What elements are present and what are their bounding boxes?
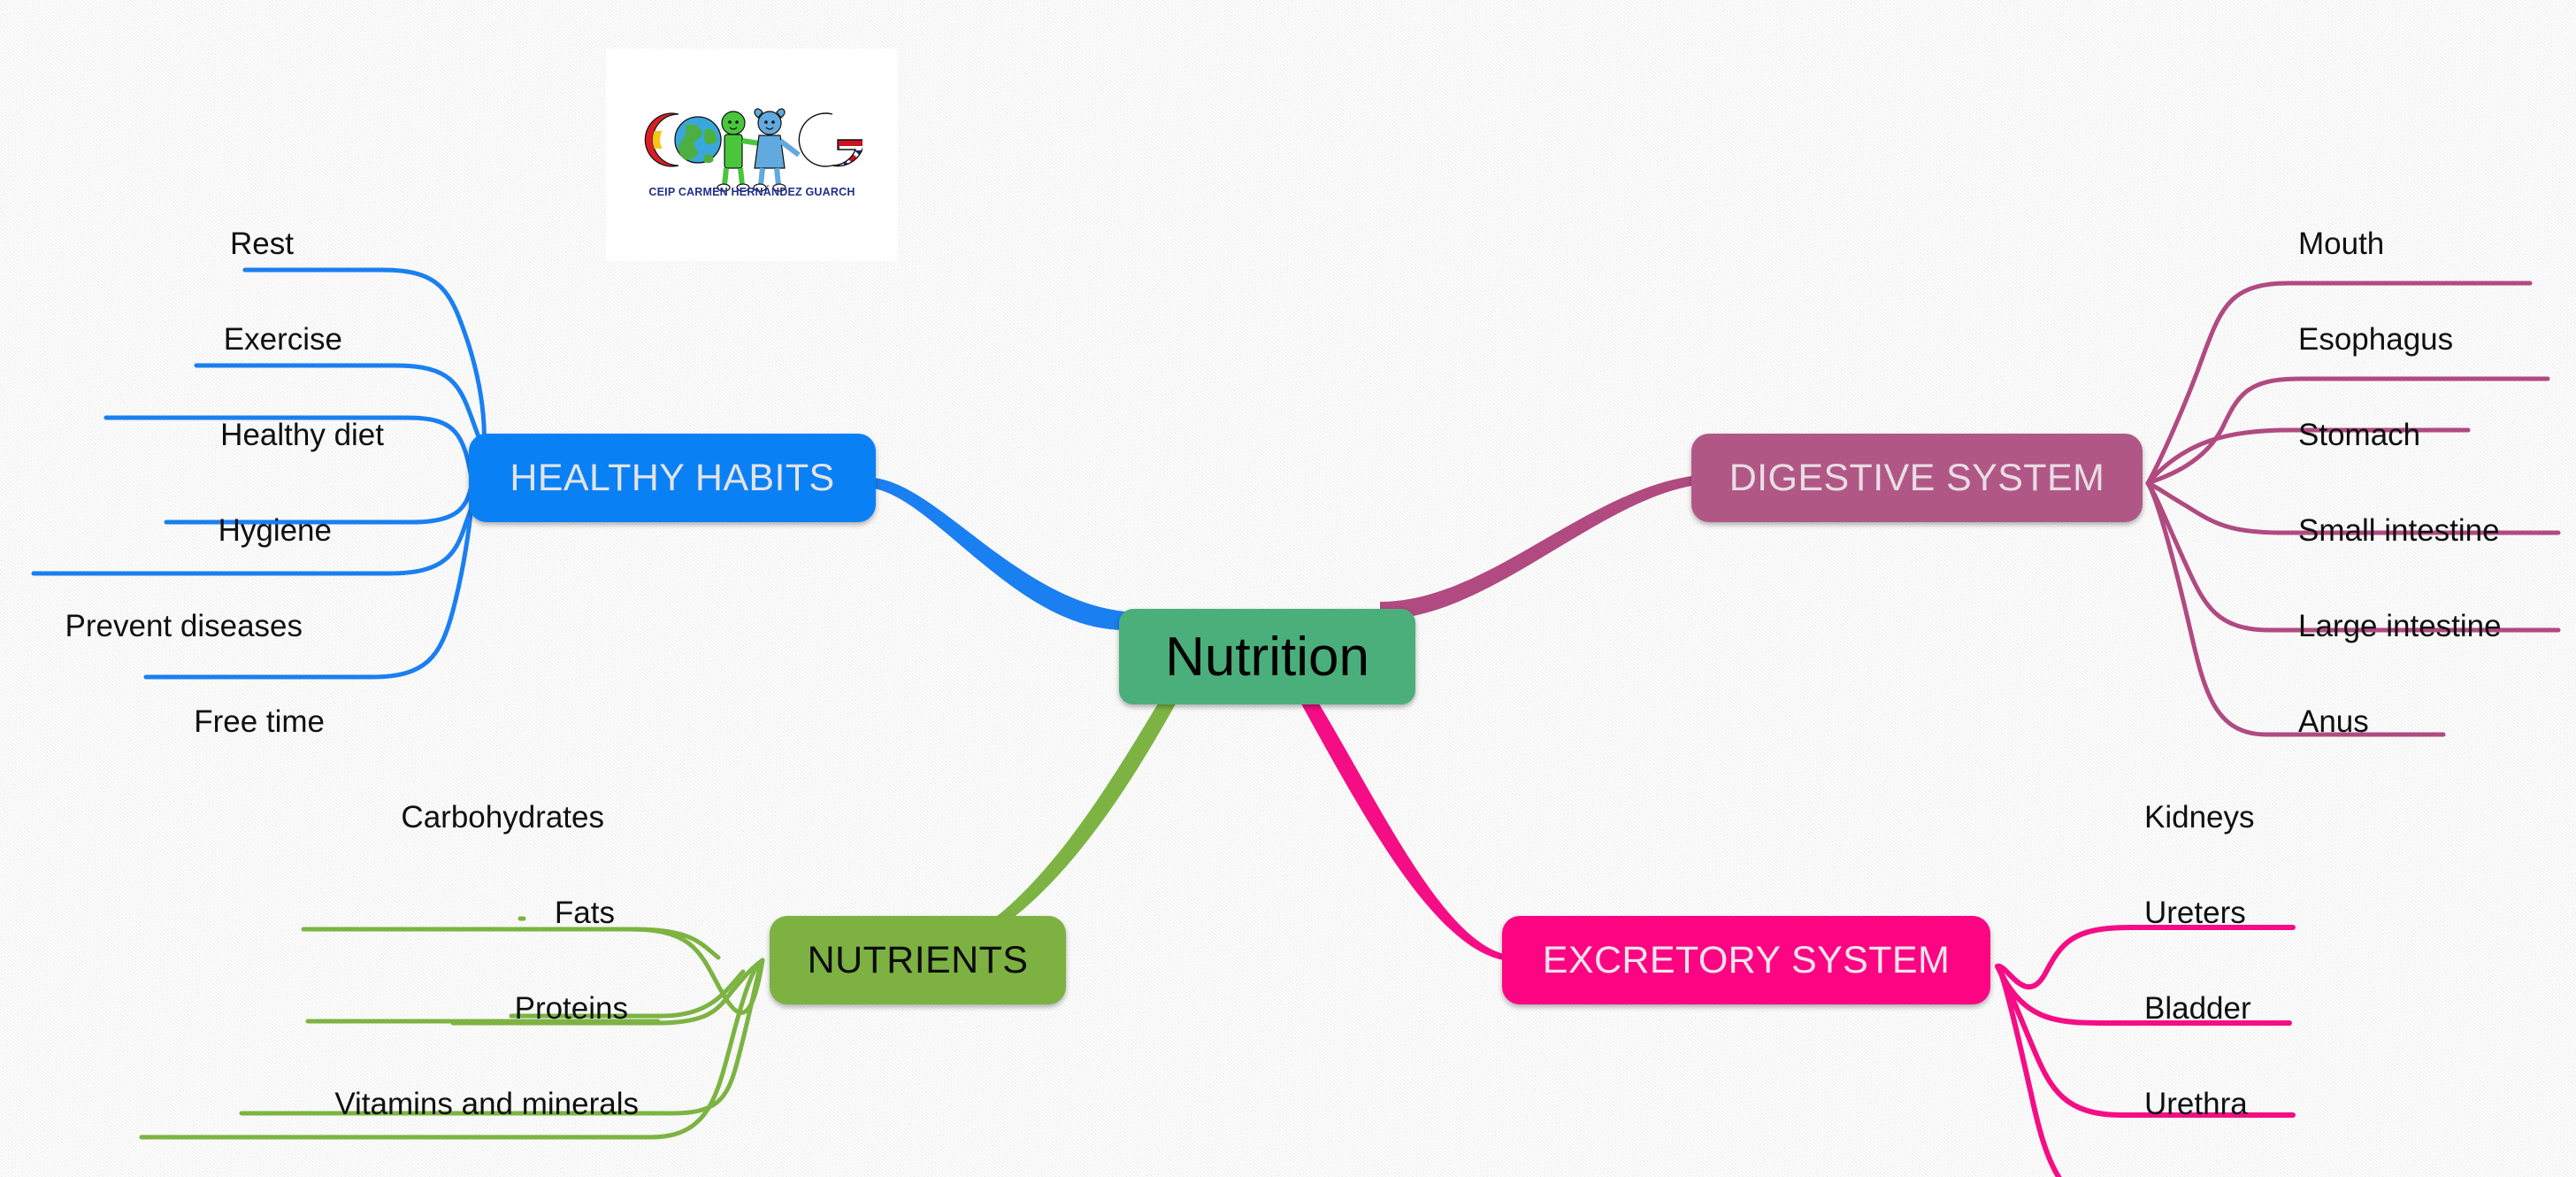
leaf-digestive-stomach[interactable]: Stomach <box>2298 419 2420 450</box>
leaf-label: Large intestine <box>2298 609 2502 643</box>
edges-excretory-system <box>1997 927 2293 1177</box>
leaf-digestive-large-intestine[interactable]: Large intestine <box>2298 611 2502 642</box>
leaf-label: Hygiene <box>218 513 332 548</box>
leaf-healthy-habits-exercise[interactable]: Exercise <box>224 324 342 355</box>
branch-node-digestive-system[interactable]: DIGESTIVE SYSTEM <box>1691 434 2143 522</box>
leaf-label: Healthy diet <box>220 418 384 452</box>
school-logo-caption: CEIP CARMEN HERNÁNDEZ GUARCH <box>606 186 898 198</box>
branch-node-healthy-habits[interactable]: HEALTHY HABITS <box>469 434 876 522</box>
leaf-label: Vitamins and minerals <box>334 1087 639 1121</box>
central-node-nutrition[interactable]: Nutrition <box>1119 609 1415 704</box>
leaf-label: Rest <box>230 227 294 261</box>
leaf-digestive-small-intestine[interactable]: Small intestine <box>2298 515 2500 546</box>
school-logo: CEIP CARMEN HERNÁNDEZ GUARCH <box>606 49 898 261</box>
leaf-label: Fats <box>555 896 615 930</box>
leaf-nutrients-fats[interactable]: Fats <box>555 897 615 928</box>
leaf-excretory-kidneys[interactable]: Kidneys <box>2144 802 2255 833</box>
uk-flag-g-icon <box>799 108 862 174</box>
logo-graphic <box>641 104 862 196</box>
trunk-healthy-habits <box>874 478 1141 630</box>
leaf-label: Carbohydrates <box>401 800 604 835</box>
leaf-excretory-bladder[interactable]: Bladder <box>2144 993 2251 1024</box>
mindmap-canvas: CEIP CARMEN HERNÁNDEZ GUARCH Nutrition H… <box>0 0 2576 1177</box>
leaf-digestive-esophagus[interactable]: Esophagus <box>2298 324 2453 355</box>
spain-flag-c-icon <box>645 113 678 166</box>
leaf-nutrients-vitamins-and-minerals[interactable]: Vitamins and minerals <box>334 1089 639 1119</box>
globe-icon <box>675 117 721 163</box>
leaf-healthy-habits-rest[interactable]: Rest <box>230 228 294 259</box>
leaf-label: Mouth <box>2298 227 2384 261</box>
branch-node-nutrients-label: NUTRIENTS <box>808 939 1029 982</box>
leaf-digestive-anus[interactable]: Anus <box>2298 706 2369 737</box>
branch-node-nutrients[interactable]: NUTRIENTS <box>770 916 1066 1004</box>
trunk-digestive-system <box>1380 476 1691 619</box>
leaf-healthy-habits-hygiene[interactable]: Hygiene <box>218 515 332 546</box>
leaf-label: Bladder <box>2144 991 2251 1026</box>
leaf-excretory-urethra[interactable]: Urethra <box>2144 1089 2248 1119</box>
leaf-label: Kidneys <box>2144 800 2255 835</box>
leaf-excretory-ureters[interactable]: Ureters <box>2144 897 2246 928</box>
central-node-label: Nutrition <box>1165 626 1369 689</box>
leaf-nutrients-proteins[interactable]: Proteins <box>515 993 628 1024</box>
leaf-label: Ureters <box>2144 896 2246 930</box>
leaf-label: Prevent diseases <box>65 609 303 643</box>
branch-node-excretory-system-label: EXCRETORY SYSTEM <box>1543 939 1950 982</box>
leaf-healthy-habits-healthy-diet[interactable]: Healthy diet <box>220 419 384 450</box>
branch-node-healthy-habits-label: HEALTHY HABITS <box>510 457 834 500</box>
leaf-healthy-habits-free-time[interactable]: Free time <box>194 706 325 737</box>
leaf-label: Free time <box>194 704 325 739</box>
edges-nutrients <box>241 929 763 1113</box>
leaf-label: Urethra <box>2144 1087 2248 1121</box>
leaf-label: Anus <box>2298 704 2369 739</box>
leaf-digestive-mouth[interactable]: Mouth <box>2298 228 2384 259</box>
leaf-label: Small intestine <box>2298 513 2500 548</box>
leaf-healthy-habits-prevent-diseases[interactable]: Prevent diseases <box>65 611 303 642</box>
child-blue-icon <box>754 109 799 191</box>
leaf-label: Esophagus <box>2298 322 2453 357</box>
branch-node-excretory-system[interactable]: EXCRETORY SYSTEM <box>1502 916 1990 1004</box>
trunk-excretory-system <box>1299 699 1504 960</box>
leaf-label: Exercise <box>224 322 342 357</box>
leaf-nutrients-carbohydrates[interactable]: Carbohydrates <box>401 802 604 833</box>
leaf-label: Proteins <box>515 991 628 1026</box>
leaf-label: Stomach <box>2298 418 2420 452</box>
branch-node-digestive-system-label: DIGESTIVE SYSTEM <box>1729 457 2105 500</box>
